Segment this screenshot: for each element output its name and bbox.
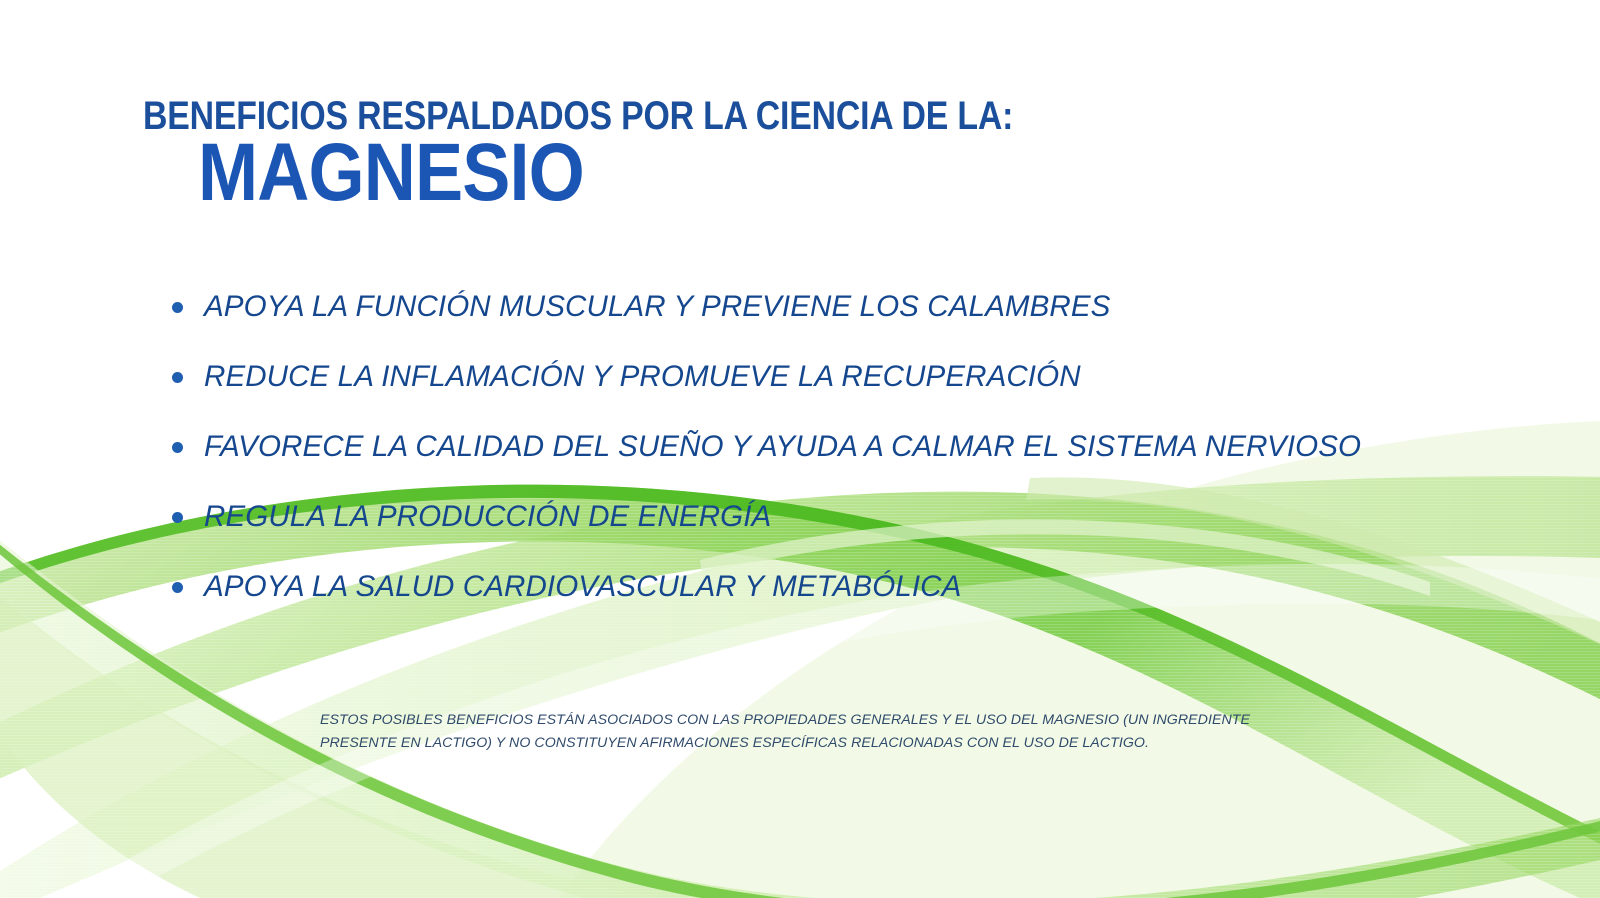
bullet-icon [172,372,183,383]
bullet-icon [172,302,183,313]
benefit-label: FAVORECE LA CALIDAD DEL SUEÑO Y AYUDA A … [204,431,1361,463]
list-item: REGULA LA PRODUCCIÓN DE ENERGÍA [168,482,1568,552]
slide-content: BENEFICIOS RESPALDADOS POR LA CIENCIA DE… [0,0,1600,898]
benefit-label: REDUCE LA INFLAMACIÓN Y PROMUEVE LA RECU… [204,361,1081,393]
benefit-label: REGULA LA PRODUCCIÓN DE ENERGÍA [204,501,771,533]
benefit-label: APOYA LA FUNCIÓN MUSCULAR Y PREVIENE LOS… [204,291,1110,323]
disclaimer-line-1: ESTOS POSIBLES BENEFICIOS ESTÁN ASOCIADO… [320,709,1330,732]
page-title: MAGNESIO [198,132,584,214]
list-item: APOYA LA SALUD CARDIOVASCULAR Y METABÓLI… [168,552,1568,622]
benefits-list: APOYA LA FUNCIÓN MUSCULAR Y PREVIENE LOS… [168,272,1568,622]
disclaimer-line-2: PRESENTE EN LACTIGO) Y NO CONSTITUYEN AF… [320,732,1330,755]
list-item: REDUCE LA INFLAMACIÓN Y PROMUEVE LA RECU… [168,342,1568,412]
list-item: APOYA LA FUNCIÓN MUSCULAR Y PREVIENE LOS… [168,272,1568,342]
slide-canvas: BENEFICIOS RESPALDADOS POR LA CIENCIA DE… [0,0,1600,898]
list-item: FAVORECE LA CALIDAD DEL SUEÑO Y AYUDA A … [168,412,1568,482]
benefit-label: APOYA LA SALUD CARDIOVASCULAR Y METABÓLI… [204,571,961,603]
bullet-icon [172,512,183,523]
disclaimer-text: ESTOS POSIBLES BENEFICIOS ESTÁN ASOCIADO… [320,709,1330,755]
bullet-icon [172,442,183,453]
bullet-icon [172,582,183,593]
